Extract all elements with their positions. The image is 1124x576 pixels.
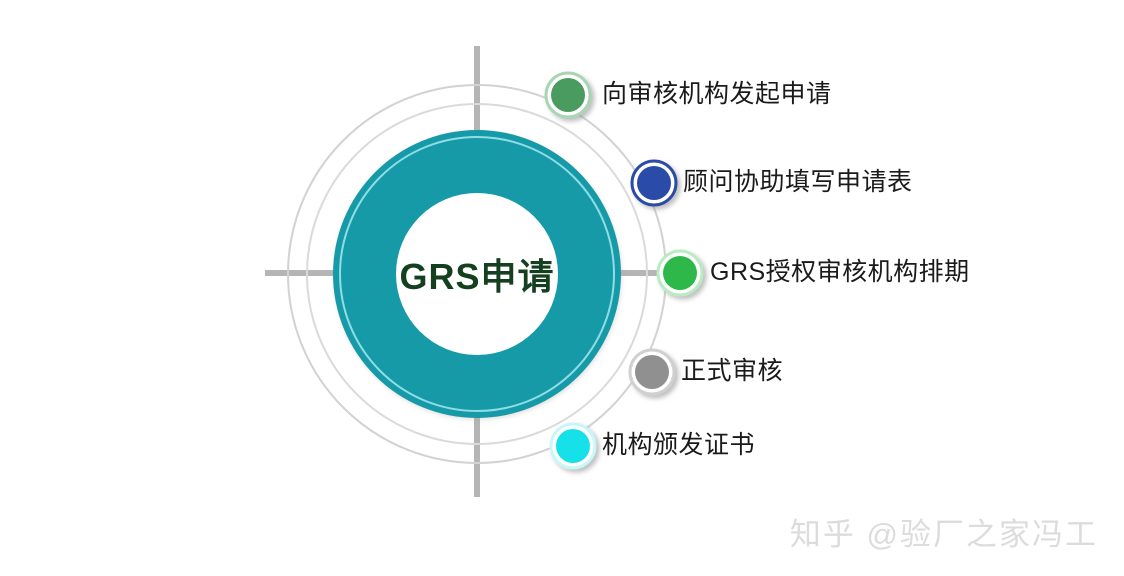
step-marker-2[interactable]	[632, 161, 676, 205]
step-marker-4[interactable]	[630, 350, 674, 394]
diagram-canvas: GRS申请 向审核机构发起申请 顾问协助填写申请表 GRS授权审核机构排期 正式…	[0, 0, 1124, 576]
step-marker-5[interactable]	[551, 424, 595, 468]
step-marker-gray[interactable]	[635, 355, 669, 389]
step-marker-3[interactable]	[658, 251, 702, 295]
step-label-3: GRS授权审核机构排期	[710, 260, 970, 285]
hub-center-title: GRS申请	[399, 248, 554, 300]
step-marker-1[interactable]	[546, 73, 590, 117]
step-label-5: 机构颁发证书	[602, 433, 755, 458]
step-label-1: 向审核机构发起申请	[602, 82, 832, 107]
step-marker-cyan[interactable]	[556, 429, 590, 463]
step-label-4: 正式审核	[681, 359, 783, 384]
step-marker-blue[interactable]	[637, 166, 671, 200]
step-marker-green-sage[interactable]	[551, 78, 585, 112]
radial-process-diagram	[0, 0, 1124, 576]
step-label-2: 顾问协助填写申请表	[683, 170, 913, 195]
step-marker-green-bright[interactable]	[663, 256, 697, 290]
watermark-text: 知乎 @验厂之家冯工	[790, 509, 1098, 554]
